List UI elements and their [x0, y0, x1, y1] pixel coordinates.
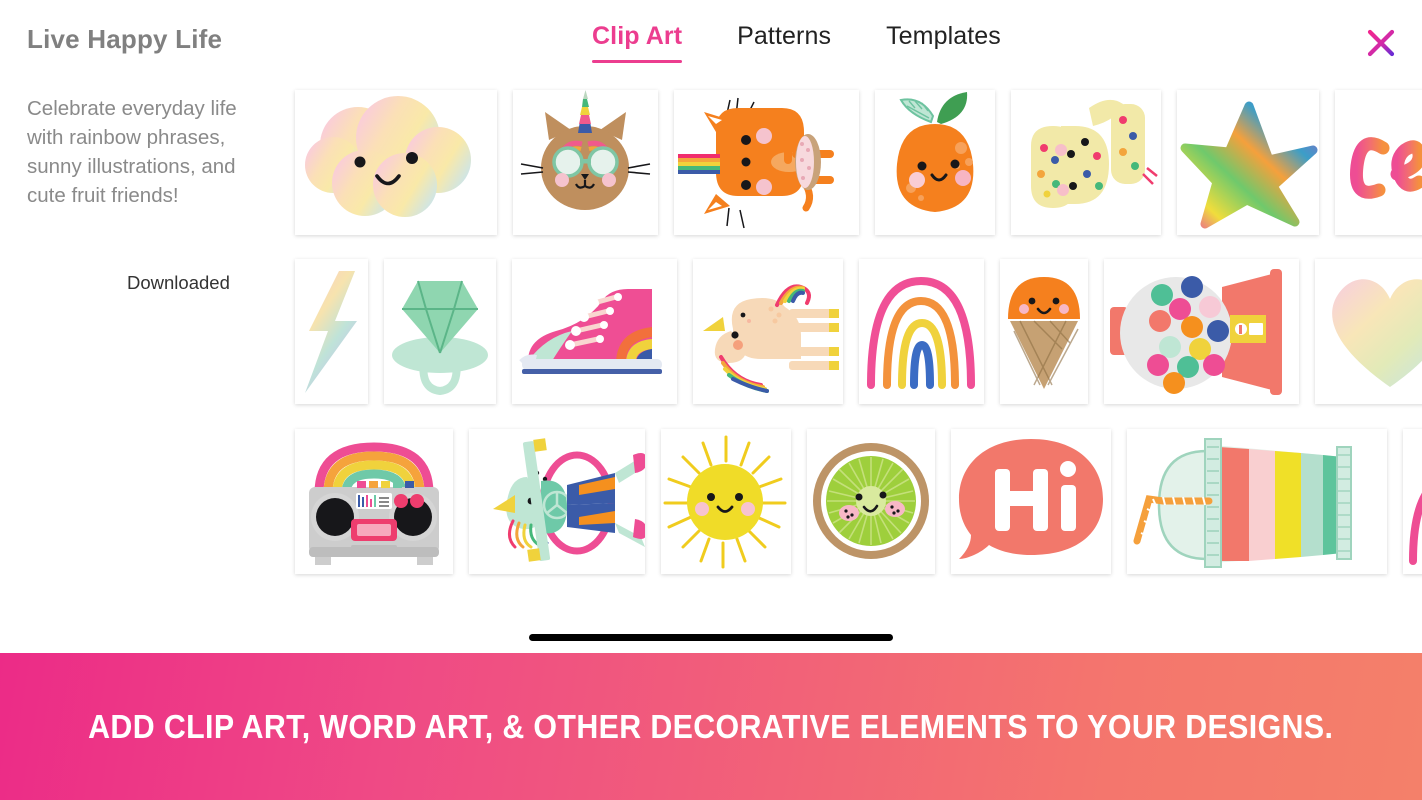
clip-art-tile-ice-cream-cone[interactable] — [1000, 259, 1088, 404]
page-title: Live Happy Life — [27, 24, 222, 55]
clip-art-tile-rainbow-arcs[interactable] — [859, 259, 984, 404]
clip-art-tile-hula-hoop-unicorn[interactable] — [469, 429, 645, 574]
clip-art-tile-rainbow-star[interactable] — [1177, 90, 1319, 235]
clip-art-tile-rainbow-boombox[interactable] — [295, 429, 453, 574]
clip-art-tile-rainbow-partial[interactable] — [1403, 429, 1422, 574]
clip-art-tile-celebrate-word-art[interactable] — [1335, 90, 1422, 235]
clip-art-row — [295, 259, 1422, 404]
clip-art-tile-unicorn-cat-face[interactable] — [513, 90, 658, 235]
promo-banner: ADD CLIP ART, WORD ART, & OTHER DECORATI… — [0, 653, 1422, 800]
tab-templates-label: Templates — [886, 22, 1001, 50]
clip-art-tile-striped-drink-cup[interactable] — [1127, 429, 1387, 574]
tab-clip-art-label: Clip Art — [592, 22, 682, 50]
clip-art-tile-rainbow-cloud-face[interactable] — [295, 90, 497, 235]
promo-banner-text: ADD CLIP ART, WORD ART, & OTHER DECORATI… — [88, 708, 1333, 746]
tab-clip-art[interactable]: Clip Art — [592, 22, 709, 63]
tab-bar: Clip Art Patterns Templates — [592, 22, 1028, 63]
clip-art-tile-mint-ring-pop[interactable] — [384, 259, 496, 404]
tab-patterns-label: Patterns — [737, 22, 831, 50]
clip-art-tile-smiling-sun[interactable] — [661, 429, 791, 574]
clip-art-tile-happy-orange-fruit[interactable] — [875, 90, 995, 235]
panel-header: Live Happy Life Clip Art Patterns Templa… — [0, 0, 1422, 82]
close-icon[interactable] — [1366, 28, 1396, 58]
clip-art-tile-hi-speech-bubble[interactable] — [951, 429, 1111, 574]
clip-art-row — [295, 90, 1422, 235]
tab-active-underline — [592, 60, 682, 63]
clip-art-tile-rainbow-sneaker[interactable] — [512, 259, 677, 404]
tab-patterns[interactable]: Patterns — [709, 22, 858, 63]
clip-art-tile-kiwi-slice-face[interactable] — [807, 429, 935, 574]
clip-art-tile-gumball-machine[interactable] — [1104, 259, 1299, 404]
clip-art-grid[interactable] — [0, 82, 1422, 642]
home-indicator-bar[interactable] — [529, 634, 893, 641]
clip-art-tile-flying-unicorn[interactable] — [693, 259, 843, 404]
clip-art-tile-rainbow-horn-cat[interactable] — [674, 90, 859, 235]
tab-templates[interactable]: Templates — [858, 22, 1028, 63]
clip-art-row — [295, 429, 1422, 574]
clip-art-tile-pastel-lightning-bolt[interactable] — [295, 259, 368, 404]
clip-art-tile-gradient-heart[interactable] — [1315, 259, 1422, 404]
clip-art-tile-giraffe-letter[interactable] — [1011, 90, 1161, 235]
